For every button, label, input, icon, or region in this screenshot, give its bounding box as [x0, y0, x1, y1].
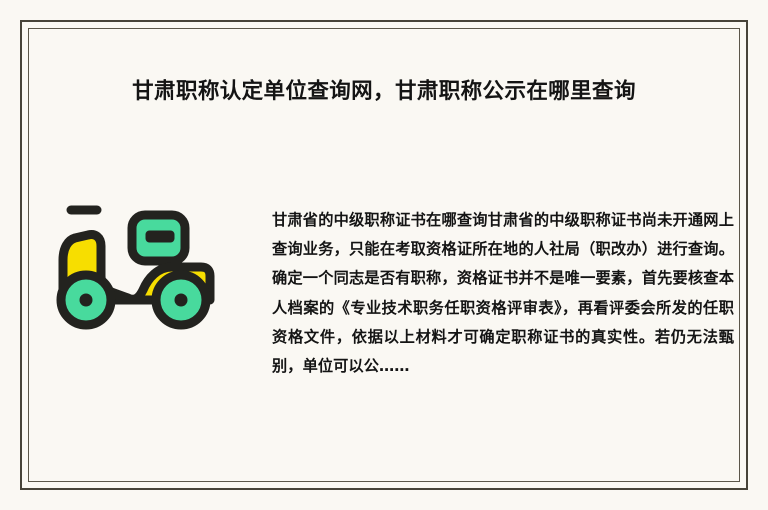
- front-wheel-hub-icon: [176, 295, 187, 306]
- cargo-box-slot-icon: [147, 232, 173, 241]
- article-body-text: 甘肃省的中级职称证书在哪查询甘肃省的中级职称证书尚未开通网上查询业务，只能在考取…: [272, 206, 734, 381]
- page-canvas: 甘肃职称认定单位查询网，甘肃职称公示在哪里查询 甘肃省的中级职称证书在哪查询甘肃…: [0, 0, 768, 510]
- scooter-illustration: [48, 198, 230, 332]
- rear-wheel-hub-icon: [81, 295, 92, 306]
- page-title: 甘肃职称认定单位查询网，甘肃职称公示在哪里查询: [28, 78, 740, 106]
